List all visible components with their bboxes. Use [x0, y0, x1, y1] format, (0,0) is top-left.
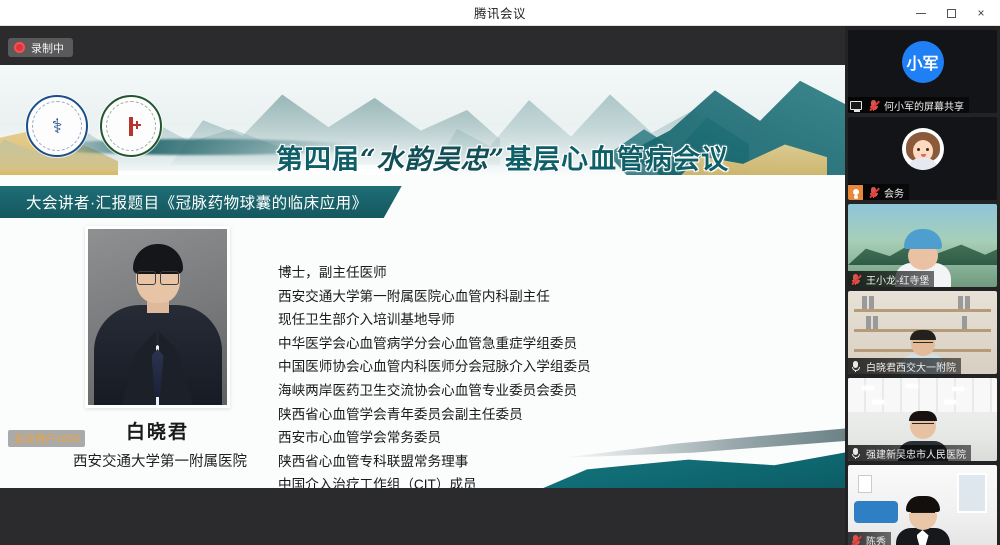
participant-tile[interactable]: 陈秀: [848, 465, 997, 545]
recording-label: 录制中: [31, 40, 64, 56]
mic-muted-icon: [848, 533, 863, 545]
slide-logos: ⚕: [26, 95, 162, 157]
participant-name: 何小军的屏幕共享: [884, 98, 964, 113]
bio-line: 中华医学会心血管病学分会心血管急重症学组委员: [278, 332, 823, 356]
participant-label: 强建新吴忠市人民医院: [848, 445, 971, 461]
bio-line: 海峡两岸医药卫生交流协会心血管专业委员会委员: [278, 379, 823, 403]
title-bar: 腾讯会议 ×: [0, 0, 1000, 26]
mic-icon: [848, 359, 863, 374]
slide-subtitle-ribbon: 大会讲者·汇报题目《冠脉药物球囊的临床应用》: [0, 186, 402, 218]
participant-label: 何小军的屏幕共享: [848, 97, 969, 113]
hospital-logo-icon: [100, 95, 162, 157]
participant-label: 白晓君西交大一附院: [848, 358, 961, 374]
bio-line: 陕西省心血管学会青年委员会副主任委员: [278, 403, 823, 427]
participant-tile[interactable]: 强建新吴忠市人民医院: [848, 378, 997, 461]
bio-line: 中国医师协会心血管内科医师分会冠脉介入学组委员: [278, 355, 823, 379]
bio-line: 西安交通大学第一附属医院心血管内科副主任: [278, 285, 823, 309]
mic-muted-icon: [866, 185, 881, 200]
participant-tile[interactable]: 小军 何小军的屏幕共享: [848, 30, 997, 113]
slide-subtitle: 大会讲者·汇报题目《冠脉药物球囊的临床应用》: [26, 191, 368, 213]
screen-share-icon: [848, 98, 863, 113]
recording-badge: 录制中: [8, 38, 73, 57]
participant-tile[interactable]: 白晓君西交大一附院: [848, 291, 997, 374]
bio-line: 博士，副主任医师: [278, 261, 823, 285]
mic-muted-icon: [866, 98, 881, 113]
participant-name: 白晓君西交大一附院: [866, 359, 956, 374]
participant-label: 会务: [848, 184, 909, 200]
window-controls: ×: [906, 0, 996, 26]
speaker-name: 白晓君: [85, 417, 230, 444]
avatar: [902, 128, 944, 170]
avatar: 小军: [902, 41, 944, 83]
share-owner-tag: 会议用户1053: [8, 430, 85, 447]
share-owner-name: 会议用户1053: [14, 431, 79, 446]
close-button[interactable]: ×: [966, 0, 996, 26]
participant-name: 会务: [884, 185, 904, 200]
maximize-icon: [947, 9, 956, 18]
red-cross-icon: [129, 117, 133, 136]
participant-label: 王小龙-红寺堡: [848, 271, 934, 287]
slide-title: 第四届“水韵吴忠”基层心血管病会议: [276, 138, 729, 177]
participant-name: 陈秀: [866, 533, 886, 545]
participant-name: 强建新吴忠市人民医院: [866, 446, 966, 461]
bio-line: 现任卫生部介入培训基地导师: [278, 308, 823, 332]
shared-screen-stage: 录制中 ⚕: [0, 26, 845, 545]
participant-name: 王小龙-红寺堡: [866, 272, 929, 287]
speaker-organization: 西安交通大学第一附属医院: [35, 450, 285, 471]
app-title: 腾讯会议: [474, 3, 526, 22]
mic-muted-icon: [848, 272, 863, 287]
meeting-window: 腾讯会议 × 录制中: [0, 0, 1000, 545]
participant-tile[interactable]: 王小龙-红寺堡: [848, 204, 997, 287]
participant-tile[interactable]: 会务: [848, 117, 997, 200]
record-dot-icon: [14, 42, 25, 53]
glasses-icon: [137, 271, 179, 284]
maximize-button[interactable]: [936, 0, 966, 26]
minimize-button[interactable]: [906, 0, 936, 26]
speaker-bio-list: 博士，副主任医师 西安交通大学第一附属医院心血管内科副主任 现任卫生部介入培训基…: [278, 261, 823, 488]
speaker-photo: [85, 226, 230, 408]
participant-rail[interactable]: 小军 何小军的屏幕共享 会务: [845, 26, 1000, 545]
minimize-icon: [916, 13, 926, 14]
presentation-slide: ⚕ 第四届“水韵吴忠”基层心血管病会议 大会讲者·汇报题目《冠脉药物球囊的临床应…: [0, 65, 845, 488]
participant-label: 陈秀: [848, 532, 891, 545]
society-logo-icon: ⚕: [26, 95, 88, 157]
mic-icon: [848, 446, 863, 461]
host-badge-icon: [848, 185, 863, 200]
